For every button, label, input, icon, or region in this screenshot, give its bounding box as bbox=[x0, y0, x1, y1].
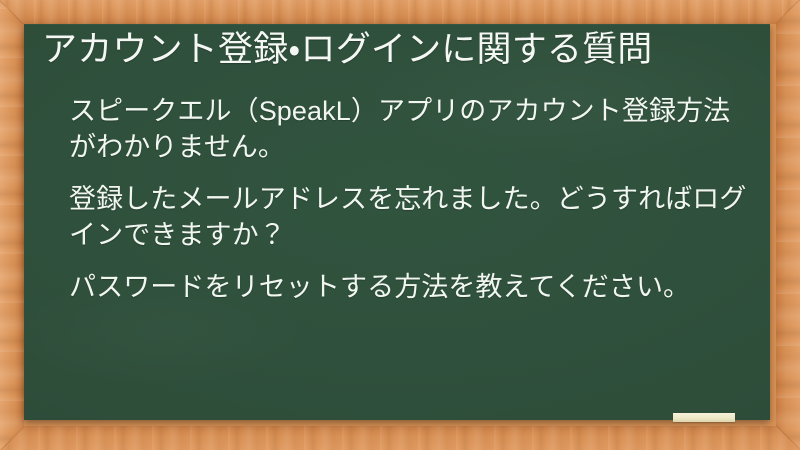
frame-plank-left bbox=[0, 0, 24, 450]
frame-plank-right bbox=[776, 0, 800, 450]
slide-title: アカウント登録・ログインに関する質問 bbox=[33, 28, 762, 72]
chalkboard-content: アカウント登録・ログインに関する質問 スピークエル（SpeakL）アプリのアカウ… bbox=[24, 24, 770, 420]
chalk-stick-icon bbox=[673, 413, 735, 422]
chalkboard-surface: アカウント登録・ログインに関する質問 スピークエル（SpeakL）アプリのアカウ… bbox=[24, 24, 770, 420]
chalkboard-slide: アカウント登録・ログインに関する質問 スピークエル（SpeakL）アプリのアカウ… bbox=[0, 0, 800, 450]
question-list: スピークエル（SpeakL）アプリのアカウント登録方法がわかりません。 登録した… bbox=[33, 94, 762, 306]
question-list-item: 登録したメールアドレスを忘れました。どうすればログインできますか？ bbox=[69, 182, 748, 254]
frame-plank-top bbox=[0, 0, 800, 24]
frame-plank-bottom bbox=[0, 426, 800, 450]
question-list-item: パスワードをリセットする方法を教えてください。 bbox=[69, 270, 748, 306]
question-list-item: スピークエル（SpeakL）アプリのアカウント登録方法がわかりません。 bbox=[69, 94, 748, 166]
